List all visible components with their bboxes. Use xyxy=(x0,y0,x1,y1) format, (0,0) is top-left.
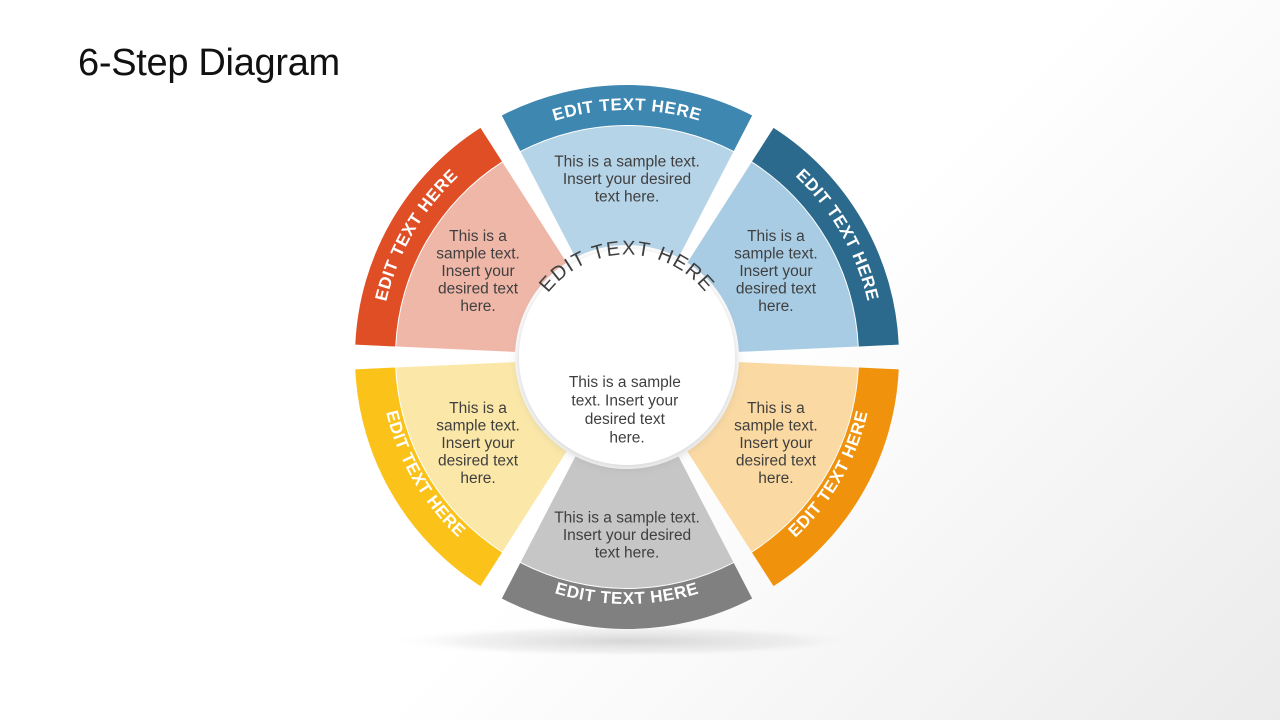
wheel-drop-shadow xyxy=(387,625,867,657)
segment-body-line: This is a sample text. xyxy=(554,154,700,171)
center-body-line: This is a sample xyxy=(569,374,681,391)
segment-body-line: desired text xyxy=(438,453,519,470)
segment-body-line: here. xyxy=(460,298,495,315)
slide-canvas: 6-Step Diagram EDIT TEXT HEREThis is a s… xyxy=(0,0,1280,720)
segment-body-line: desired text xyxy=(438,281,519,298)
segment-body-line: here. xyxy=(758,298,793,315)
segment-body-line: Insert your xyxy=(739,263,812,280)
segment-body-line: Insert your xyxy=(739,435,812,452)
segment-body-line: here. xyxy=(758,470,793,487)
segment-body-line: sample text. xyxy=(436,418,520,435)
segment-body-line: This is a xyxy=(449,400,507,417)
center-hub[interactable]: EDIT TEXT HERE This is a sample text. In… xyxy=(519,237,735,465)
segment-body-line: Insert your xyxy=(441,263,514,280)
segment-body-line: here. xyxy=(460,470,495,487)
segment-body-line: text here. xyxy=(595,189,660,206)
segment-body-line: This is a sample text. xyxy=(554,510,700,527)
segment-body-line: Insert your xyxy=(441,435,514,452)
segment-body-line: desired text xyxy=(736,281,817,298)
segment-body-line: This is a xyxy=(747,228,805,245)
center-body-line: text. Insert your xyxy=(571,393,678,410)
segment-body-line: sample text. xyxy=(436,246,520,263)
segment-body-line: Insert your desired xyxy=(563,171,691,188)
segment-body-line: Insert your desired xyxy=(563,527,691,544)
segment-body-line: text here. xyxy=(595,545,660,562)
center-body-line: desired text xyxy=(585,411,666,428)
segment-body-line: sample text. xyxy=(734,418,818,435)
six-step-wheel-diagram: EDIT TEXT HEREThis is a sample text.Inse… xyxy=(0,0,1280,720)
segment-body-line: This is a xyxy=(747,400,805,417)
segment-body-line: sample text. xyxy=(734,246,818,263)
segment-body-line: This is a xyxy=(449,228,507,245)
segment-body-line: desired text xyxy=(736,453,817,470)
center-body-line: here. xyxy=(609,430,644,447)
